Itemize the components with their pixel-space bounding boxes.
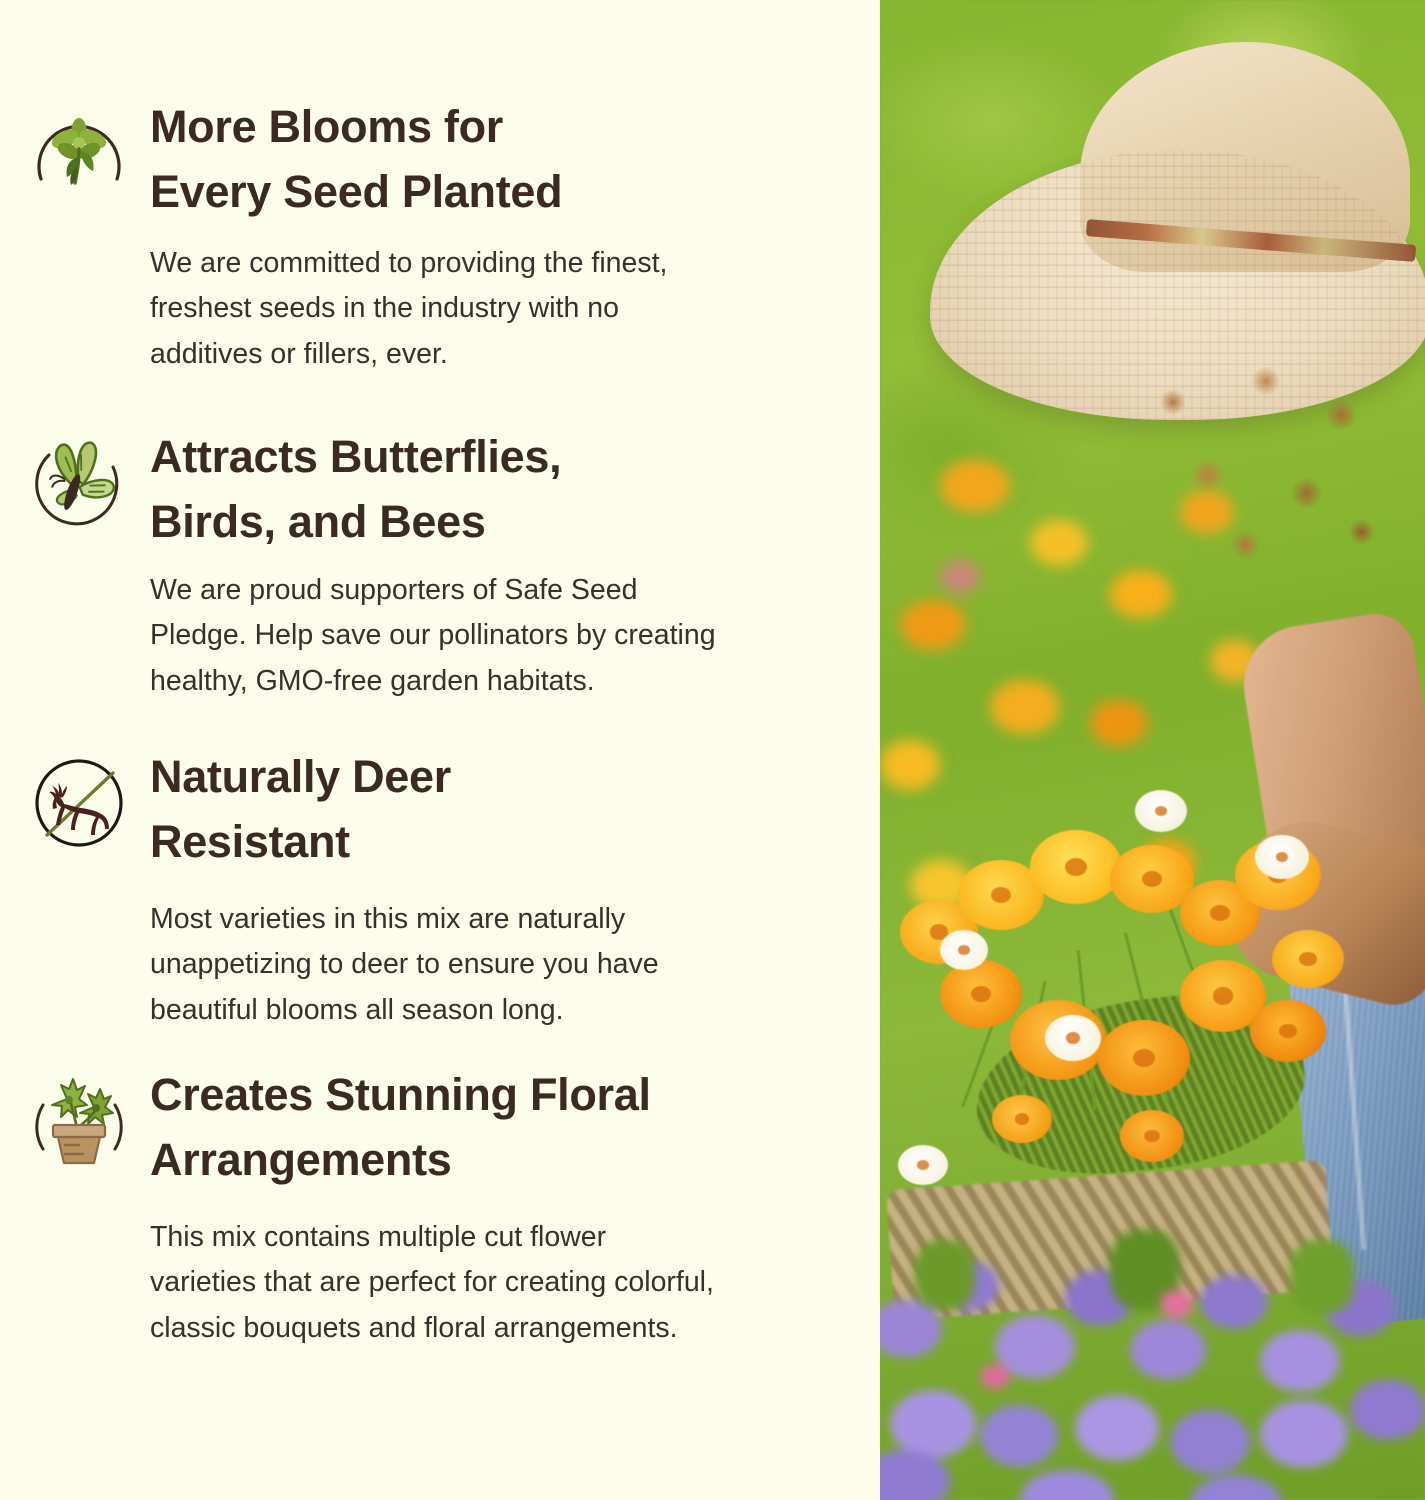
potted-plant-icon [0,1063,150,1173]
poppy-flower [1098,1020,1190,1096]
background-flower [1090,700,1148,746]
feature-item-more-blooms: More Blooms for Every Seed Planted We ar… [0,95,840,425]
purple-flower [1190,1475,1282,1500]
purple-flower [1075,1395,1159,1461]
pink-flower [980,1365,1010,1389]
white-poppy-flower [898,1145,948,1185]
green-foliage-patch [1290,1240,1354,1314]
background-flower [940,560,980,594]
feature-title: More Blooms for Every Seed Planted [150,95,667,225]
purple-flower [1350,1380,1425,1440]
poppy-flower [1250,1000,1326,1062]
white-poppy-flower [1255,835,1309,879]
feature-list: More Blooms for Every Seed Planted We ar… [0,0,880,1500]
poppy-flower [992,1095,1052,1143]
purple-flower [1200,1275,1268,1329]
product-feature-panel: More Blooms for Every Seed Planted We ar… [0,0,1425,1500]
feature-item-deer-resistant: Naturally Deer Resistant Most varieties … [0,745,840,1063]
poppy-flower [1120,1110,1184,1162]
purple-flower [890,1390,976,1458]
purple-flower [1260,1400,1348,1468]
background-flower [880,740,940,790]
white-poppy-flower [940,930,988,970]
purple-flower [980,1405,1058,1467]
pink-flower [1160,1290,1194,1318]
photo-canvas [880,0,1425,1500]
feature-text-block: More Blooms for Every Seed Planted We ar… [150,95,667,377]
feature-title: Creates Stunning Floral Arrangements [150,1063,714,1193]
background-flower [900,600,966,650]
feature-text-block: Naturally Deer Resistant Most varieties … [150,745,659,1033]
purple-flower [1170,1410,1250,1474]
feature-title: Attracts Butterflies, Birds, and Bees [150,425,716,555]
deer-resistant-icon [0,745,150,855]
green-foliage-patch [915,1240,975,1310]
butterfly-icon [0,425,150,535]
feature-body: This mix contains multiple cut flower va… [150,1215,714,1352]
background-flower [1030,520,1088,566]
background-flower [940,460,1010,512]
feature-body: We are committed to providing the finest… [150,241,667,378]
feature-text-block: Creates Stunning Floral Arrangements Thi… [150,1063,714,1351]
feature-body: We are proud supporters of Safe Seed Ple… [150,568,716,705]
feature-title: Naturally Deer Resistant [150,745,659,875]
background-flower [990,680,1060,734]
poppy-flower [940,960,1022,1028]
purple-flower [1130,1320,1206,1380]
feature-item-floral-arrangements: Creates Stunning Floral Arrangements Thi… [0,1063,840,1383]
lifestyle-photo [880,0,1425,1500]
white-poppy-flower [1135,790,1187,832]
poppy-flower [1030,830,1122,904]
purple-wildflower-foreground [880,1220,1425,1500]
feature-item-attracts-pollinators: Attracts Butterflies, Birds, and Bees We… [0,425,840,745]
flower-bloom-icon [0,95,150,205]
poppy-flower [1272,930,1344,988]
curly-hair [1115,350,1405,610]
feature-text-block: Attracts Butterflies, Birds, and Bees We… [150,425,716,704]
purple-flower [1260,1330,1340,1392]
feature-body: Most varieties in this mix are naturally… [150,897,659,1034]
purple-flower [1020,1470,1114,1500]
white-poppy-flower [1045,1015,1101,1061]
